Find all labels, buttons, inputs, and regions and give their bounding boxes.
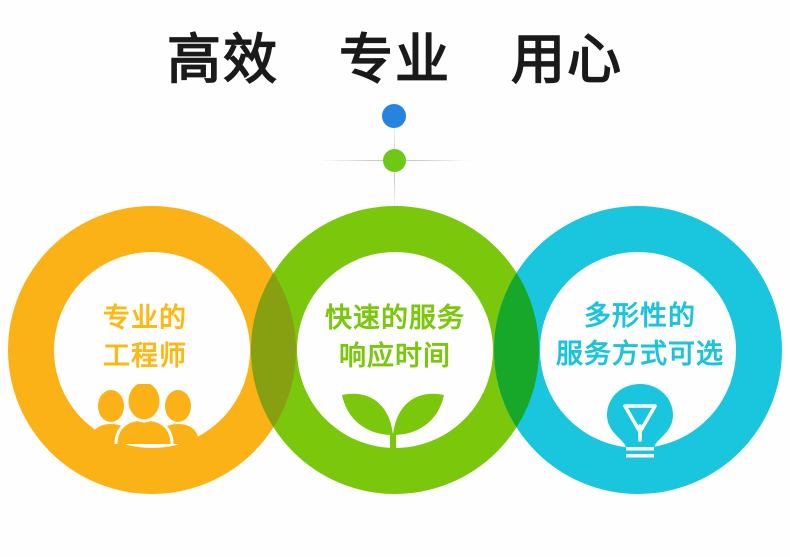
headline-word-3: 用心 (511, 28, 623, 92)
lightbulb-icon (595, 382, 685, 466)
circle-content-response-time: 快速的服务 响应时间 (295, 300, 495, 376)
headline-word-2: 专业 (339, 28, 451, 92)
circle-2-line-1: 快速的服务 (295, 300, 495, 338)
green-dot-icon (383, 149, 406, 172)
circle-3-line-2: 服务方式可选 (515, 336, 765, 374)
circle-1-line-1: 专业的 (45, 300, 245, 338)
connector-decoration (0, 100, 790, 210)
page-title: 高效专业用心 (0, 28, 790, 92)
headline-word-1: 高效 (167, 28, 279, 92)
people-icon (88, 384, 201, 448)
circle-1-line-2: 工程师 (45, 338, 245, 376)
poster-canvas: 高效专业用心 (0, 0, 790, 557)
circle-content-service-modes: 多形性的 服务方式可选 (515, 298, 765, 374)
circle-3-line-1: 多形性的 (515, 298, 765, 336)
plant-icon (330, 383, 456, 465)
circle-content-engineers: 专业的 工程师 (45, 300, 245, 376)
circle-2-line-2: 响应时间 (295, 338, 495, 376)
blue-dot-icon (382, 104, 406, 128)
